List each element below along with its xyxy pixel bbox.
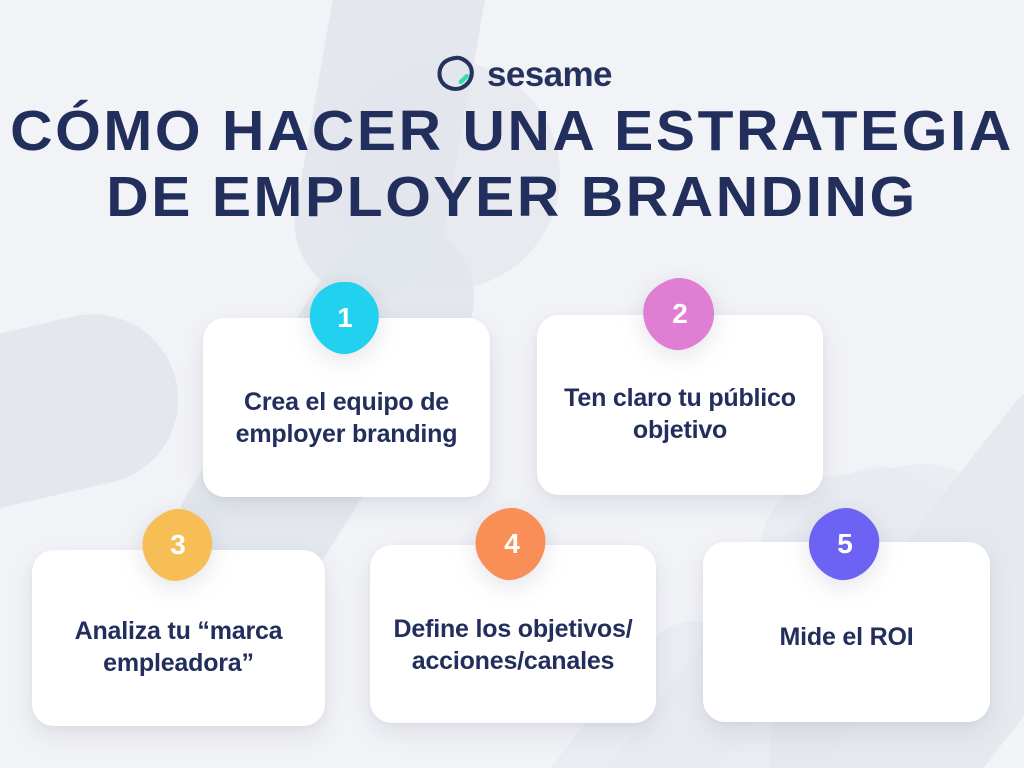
step-badge-2: 2: [639, 276, 719, 356]
decorative-bar-left: [0, 297, 195, 532]
step-badge-1: 1: [305, 280, 385, 360]
step-badge-5-number: 5: [805, 504, 885, 584]
page-title-line-2: DE EMPLOYER BRANDING: [0, 170, 1024, 226]
step-card-1-text: Crea el equipo de employer branding: [221, 387, 472, 451]
step-card-4-text: Define los objetivos/ acciones/canales: [388, 614, 638, 678]
step-badge-3: 3: [138, 507, 218, 587]
step-card-2-text: Ten claro tu público objetivo: [555, 383, 805, 447]
step-card-5-text: Mide el ROI: [780, 622, 914, 654]
step-badge-5: 5: [804, 506, 884, 586]
step-badge-1-number: 1: [305, 278, 385, 358]
page-title: CÓMO HACER UNA ESTRATEGIA DE EMPLOYER BR…: [0, 104, 1024, 226]
step-badge-4: 4: [471, 506, 551, 586]
brand-logo: sesame: [436, 54, 612, 94]
step-badge-4-number: 4: [472, 504, 552, 584]
step-badge-3-number: 3: [138, 505, 218, 585]
brand-wordmark: sesame: [487, 57, 612, 92]
step-badge-2-number: 2: [640, 274, 720, 354]
sesame-hexagon-logo-icon: [436, 54, 476, 94]
page-title-line-1: CÓMO HACER UNA ESTRATEGIA: [0, 104, 1024, 160]
step-card-3-text: Analiza tu “marca empleadora”: [50, 616, 307, 680]
